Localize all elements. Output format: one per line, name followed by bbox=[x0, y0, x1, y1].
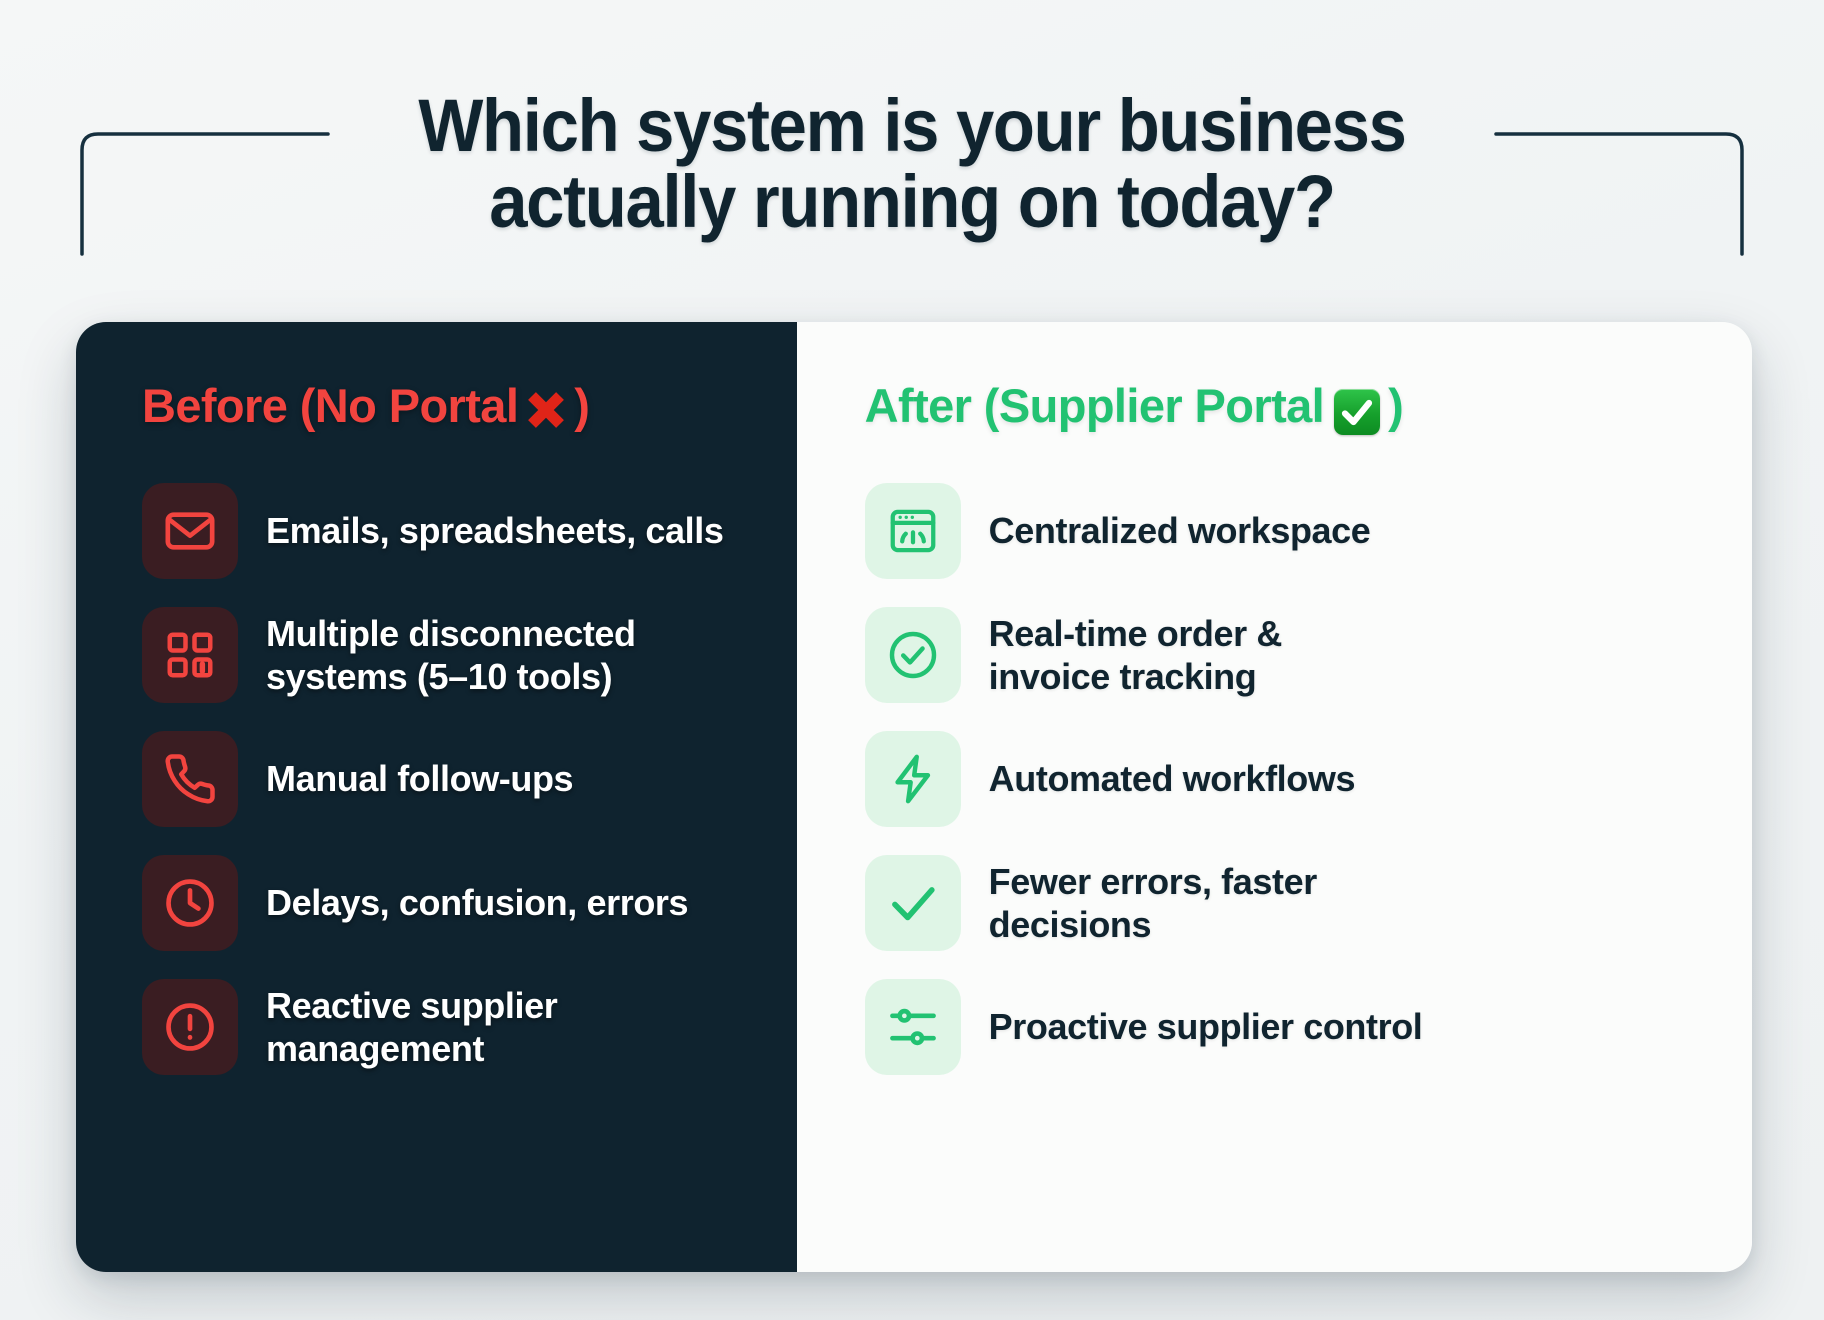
list-item-label: Manual follow-ups bbox=[266, 757, 573, 800]
list-item-label: Centralized workspace bbox=[989, 509, 1371, 552]
list-item: Real-time order & invoice tracking bbox=[865, 593, 1752, 717]
phone-icon bbox=[142, 731, 238, 827]
infographic-page: Which system is your business actually r… bbox=[0, 0, 1824, 1320]
envelope-icon bbox=[142, 483, 238, 579]
list-item-label: Proactive supplier control bbox=[989, 1005, 1423, 1048]
list-item: Fewer errors, faster decisions bbox=[865, 841, 1752, 965]
clock-icon bbox=[142, 855, 238, 951]
after-heading-text: After (Supplier Portal bbox=[865, 378, 1324, 433]
list-item-label: Emails, spreadsheets, calls bbox=[266, 509, 723, 552]
list-item: Manual follow-ups bbox=[142, 717, 797, 841]
before-panel: Before (No Portal ) Email bbox=[76, 322, 797, 1272]
cross-mark-emoji bbox=[524, 388, 568, 432]
list-item: Multiple disconnected systems (5–10 tool… bbox=[142, 593, 797, 717]
before-heading-text: Before (No Portal bbox=[142, 378, 518, 433]
list-item-label: Reactive supplier management bbox=[266, 984, 557, 1070]
after-list: Centralized workspace Real-time order & … bbox=[865, 469, 1752, 1089]
list-item: Centralized workspace bbox=[865, 469, 1752, 593]
before-list: Emails, spreadsheets, calls Multiple dis… bbox=[142, 469, 797, 1089]
after-panel: After (Supplier Portal ) bbox=[797, 322, 1752, 1272]
comparison-card: Before (No Portal ) Email bbox=[76, 322, 1752, 1272]
before-panel-heading: Before (No Portal ) bbox=[142, 378, 797, 433]
list-item-label: Fewer errors, faster decisions bbox=[989, 860, 1317, 946]
list-item: Proactive supplier control bbox=[865, 965, 1752, 1089]
list-item-label: Automated workflows bbox=[989, 757, 1355, 800]
list-item: Automated workflows bbox=[865, 717, 1752, 841]
list-item-label: Multiple disconnected systems (5–10 tool… bbox=[266, 612, 636, 698]
page-title: Which system is your business actually r… bbox=[64, 88, 1760, 240]
after-panel-heading: After (Supplier Portal ) bbox=[865, 378, 1752, 433]
alert-circle-icon bbox=[142, 979, 238, 1075]
list-item-label: Real-time order & invoice tracking bbox=[989, 612, 1282, 698]
list-item-label: Delays, confusion, errors bbox=[266, 881, 688, 924]
lightning-bolt-icon bbox=[865, 731, 961, 827]
circle-check-icon bbox=[865, 607, 961, 703]
white-check-mark-emoji bbox=[1334, 389, 1380, 435]
checkmark-icon bbox=[865, 855, 961, 951]
grid-squares-icon bbox=[142, 607, 238, 703]
before-heading-text-close: ) bbox=[574, 378, 589, 433]
after-heading-text-close: ) bbox=[1388, 378, 1403, 433]
sliders-icon bbox=[865, 979, 961, 1075]
list-item: Delays, confusion, errors bbox=[142, 841, 797, 965]
browser-dashboard-icon bbox=[865, 483, 961, 579]
list-item: Reactive supplier management bbox=[142, 965, 797, 1089]
list-item: Emails, spreadsheets, calls bbox=[142, 469, 797, 593]
